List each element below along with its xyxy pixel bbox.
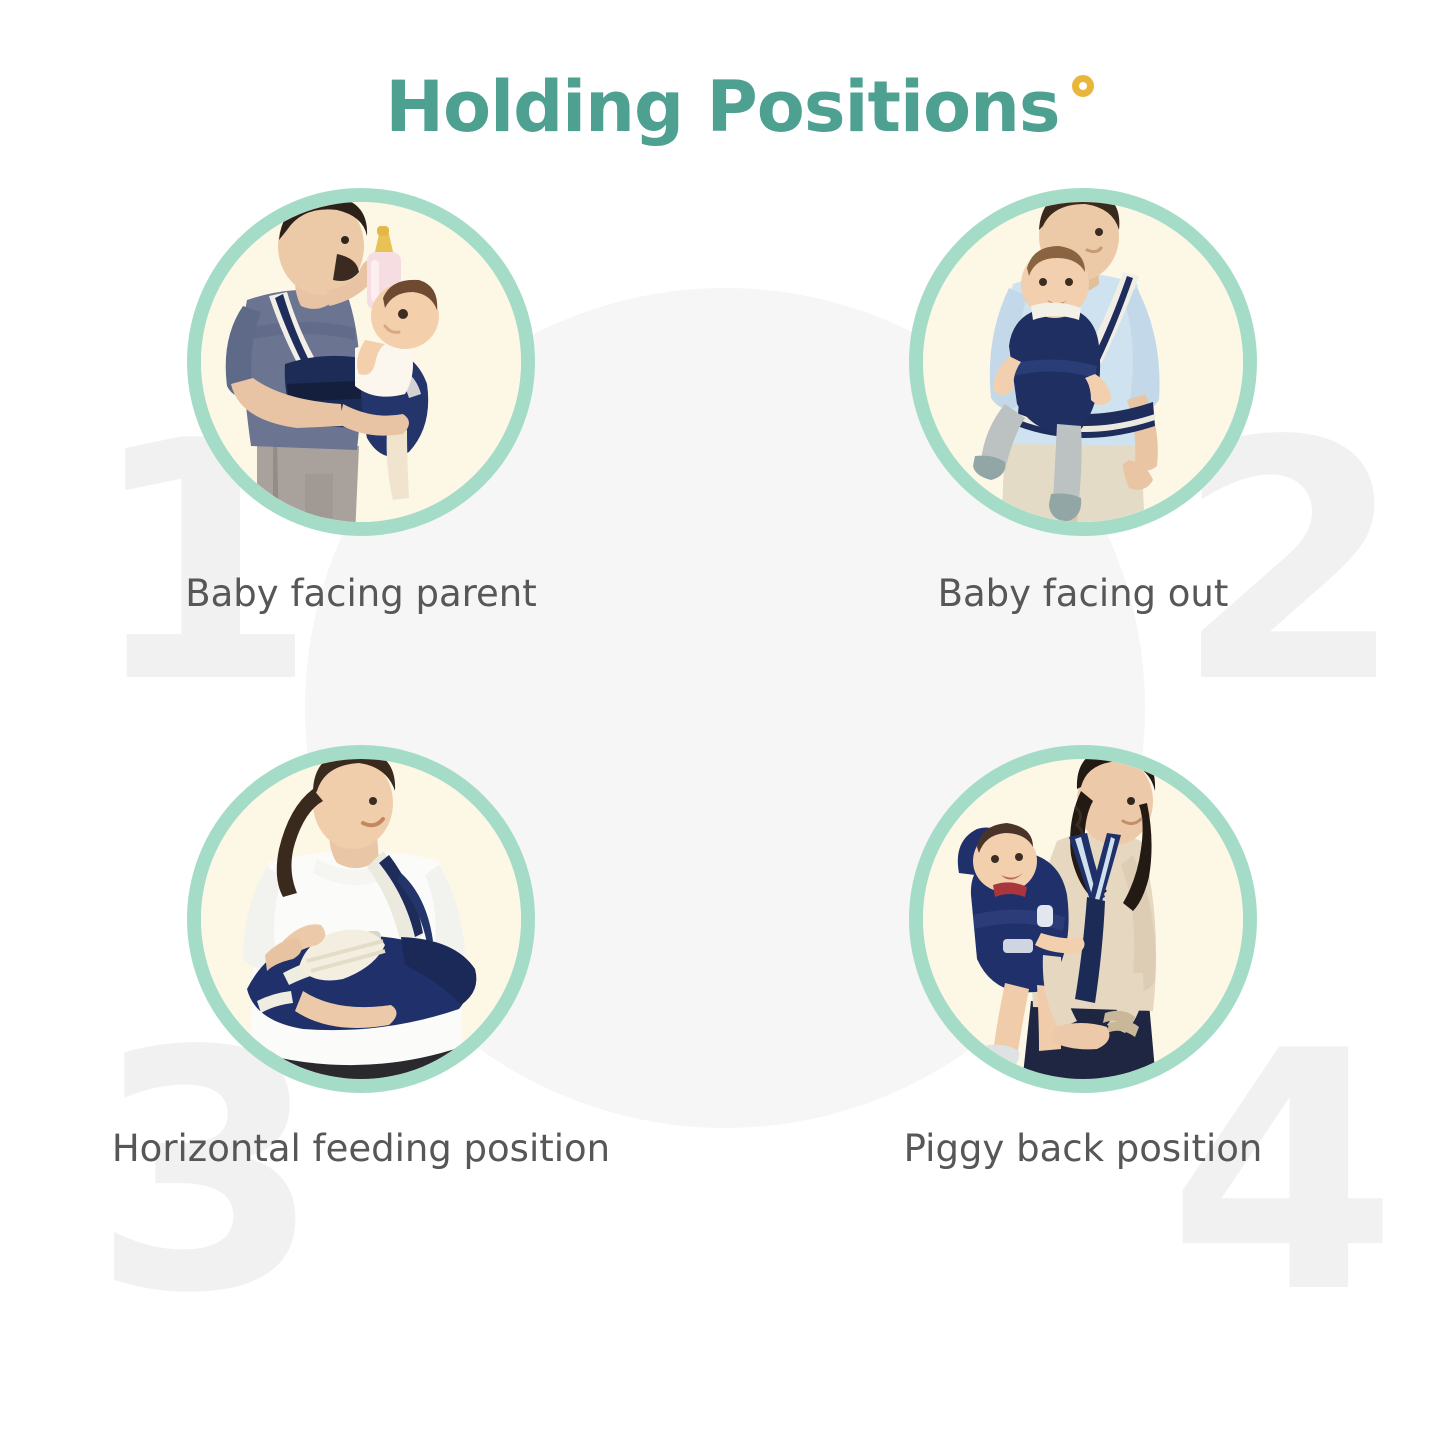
positions-grid: Baby facing parent bbox=[0, 188, 1445, 1170]
position-card-1[interactable]: Baby facing parent bbox=[0, 188, 722, 615]
position-label-3: Horizontal feeding position bbox=[112, 1127, 610, 1170]
infographic-page: 1 2 3 4 Holding Positions bbox=[0, 0, 1445, 1445]
positions-row-bottom: Horizontal feeding position bbox=[0, 745, 1445, 1170]
page-title: Holding Positions bbox=[385, 72, 1059, 142]
page-title-container: Holding Positions bbox=[0, 72, 1445, 142]
position-card-2[interactable]: Baby facing out bbox=[722, 188, 1444, 615]
position-photo-2 bbox=[909, 188, 1257, 536]
illustration-baby-facing-out bbox=[909, 188, 1257, 536]
position-label-2: Baby facing out bbox=[938, 572, 1229, 615]
page-title-text: Holding Positions bbox=[385, 66, 1059, 148]
position-photo-4 bbox=[909, 745, 1257, 1093]
position-card-4[interactable]: Piggy back position bbox=[722, 745, 1444, 1170]
positions-row-top: Baby facing parent bbox=[0, 188, 1445, 615]
illustration-piggy-back-position bbox=[909, 745, 1257, 1093]
position-card-3[interactable]: Horizontal feeding position bbox=[0, 745, 722, 1170]
illustration-horizontal-feeding-position bbox=[187, 745, 535, 1093]
position-photo-1 bbox=[187, 188, 535, 536]
position-photo-3 bbox=[187, 745, 535, 1093]
illustration-baby-facing-parent bbox=[187, 188, 535, 536]
position-label-1: Baby facing parent bbox=[185, 572, 537, 615]
ring-dot-icon bbox=[1072, 75, 1094, 97]
position-label-4: Piggy back position bbox=[904, 1127, 1263, 1170]
